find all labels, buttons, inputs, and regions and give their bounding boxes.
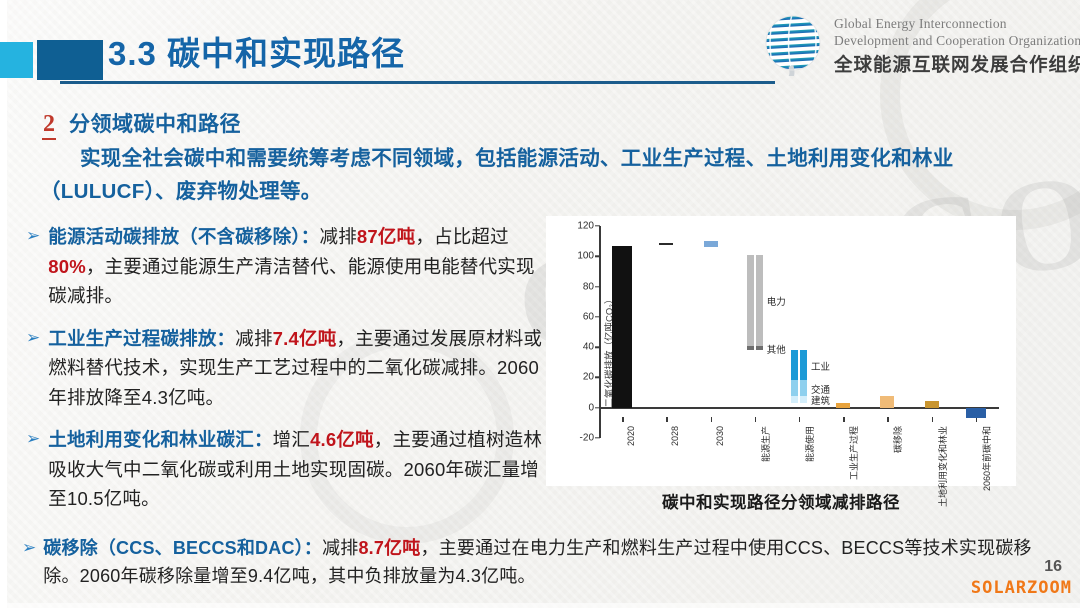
chart-y-tick-mark xyxy=(595,437,600,438)
chart-bar xyxy=(791,396,798,404)
chart-bar xyxy=(800,380,807,395)
slide-header: 3.3 碳中和实现路径 xyxy=(0,0,1080,92)
bullet-body-text: 减排 xyxy=(320,226,357,247)
bullet-body-text: 增汇 xyxy=(273,429,310,450)
chart-segment-label: 建筑 xyxy=(811,393,830,407)
chart-bar xyxy=(659,243,673,245)
chart-x-tick-label: 2030 xyxy=(715,426,725,446)
chart-x-tick-mark xyxy=(887,417,888,422)
bullet-text: 土地利用变化和林业碳汇：增汇4.6亿吨，主要通过植树造林吸收大气中二氧化碳或利用… xyxy=(48,425,546,514)
bullet-arrow-icon: ➢ xyxy=(26,425,40,514)
chart-bar xyxy=(747,255,754,346)
chart-bar xyxy=(800,350,807,380)
bullet-body-text: 减排 xyxy=(322,538,358,558)
bullet-body-text: 减排 xyxy=(235,328,272,349)
chart-y-tick-mark xyxy=(595,316,600,317)
bullet-text: 碳移除（CCS、BECCS和DAC）：减排8.7亿吨，主要通过在电力生产和燃料生… xyxy=(43,534,1062,590)
section-title: 分领域碳中和路径 xyxy=(69,108,241,138)
chart-x-tick-label: 碳移除 xyxy=(891,426,904,453)
chart-bar xyxy=(756,255,763,346)
chart-y-tick-mark xyxy=(595,407,600,408)
title-underline xyxy=(60,81,775,84)
chart-segment-label: 工业 xyxy=(811,359,830,373)
bullet-list: ➢能源活动碳排放（不含碳移除）：减排87亿吨，占比超过80%，主要通过能源生产清… xyxy=(26,222,546,527)
chart-x-tick-mark xyxy=(711,417,712,422)
chart-x-tick-mark xyxy=(622,417,623,422)
chart-bar xyxy=(704,241,718,247)
chart-bar xyxy=(966,408,986,419)
chart-caption: 碳中和实现路径分领域减排路径 xyxy=(546,489,1016,513)
section-number: 2 xyxy=(42,112,56,140)
bullet-item-1: ➢能源活动碳排放（不含碳移除）：减排87亿吨，占比超过80%，主要通过能源生产清… xyxy=(26,222,546,311)
globe-icon xyxy=(762,14,824,76)
logo-english-line2: Development and Cooperation Organization xyxy=(834,33,1080,49)
highlighted-figure: 4.6亿吨 xyxy=(310,429,374,450)
chart-bar xyxy=(800,396,807,404)
bottom-edge xyxy=(0,603,1080,608)
bullet-body-text: ，占比超过 xyxy=(415,226,509,247)
chart-bar xyxy=(925,401,939,408)
bullet-item-2: ➢工业生产过程碳排放：减排7.4亿吨，主要通过发展原材料或燃料替代技术，实现生产… xyxy=(26,324,546,413)
section-heading: 2 分领域碳中和路径 xyxy=(42,108,241,140)
highlighted-figure: 7.4亿吨 xyxy=(273,328,337,349)
bullet-heading: 能源活动碳排放（不含碳移除）： xyxy=(48,226,319,247)
chart-y-tick-mark xyxy=(595,225,600,226)
bullet-heading: 碳移除（CCS、BECCS和DAC）： xyxy=(43,538,322,558)
bullet-arrow-icon: ➢ xyxy=(22,534,36,590)
bullet-item-carbon-removal: ➢碳移除（CCS、BECCS和DAC）：减排8.7亿吨，主要通过在电力生产和燃料… xyxy=(22,534,1062,590)
chart-y-tick-mark xyxy=(595,377,600,378)
chart-y-tick-mark xyxy=(595,286,600,287)
chart-x-tick-label: 能源生产 xyxy=(759,426,772,462)
bullet-arrow-icon: ➢ xyxy=(26,324,40,413)
bullet-heading: 土地利用变化和林业碳汇： xyxy=(48,429,272,450)
chart-y-tick-mark xyxy=(595,346,600,347)
highlighted-figure: 80% xyxy=(48,256,86,277)
chart-x-tick-label: 2060年前碳中和 xyxy=(980,426,993,491)
header-accent-blue xyxy=(37,40,103,80)
chart-x-tick-mark xyxy=(755,417,756,422)
logo-chinese-name: 全球能源互联网发展合作组织 xyxy=(834,51,1080,77)
page-number: 16 xyxy=(1044,558,1062,576)
chart-x-tick-label: 2020 xyxy=(626,426,636,446)
chart-y-tick-mark xyxy=(595,256,600,257)
chart-bar xyxy=(791,350,798,380)
bullet-text: 能源活动碳排放（不含碳移除）：减排87亿吨，占比超过80%，主要通过能源生产清洁… xyxy=(48,222,546,311)
logo-english-line1: Global Energy Interconnection xyxy=(834,16,1007,32)
chart-segment-label: 其他 xyxy=(767,342,786,356)
emission-pathway-chart: 二氧化碳排放（亿吨CO₂） -2002040608010012020202028… xyxy=(546,216,1016,486)
bullet-body-text: ，主要通过能源生产清洁替代、能源使用电能替代实现碳减排。 xyxy=(48,256,534,307)
header-accent-cyan xyxy=(0,42,33,78)
chart-x-tick-mark xyxy=(843,417,844,422)
chart-bar xyxy=(612,246,632,408)
highlighted-figure: 87亿吨 xyxy=(357,226,415,247)
chart-plot-area: -20020406080100120202020282030能源生产能源使用工业… xyxy=(600,226,998,438)
slide-background: GEIDCO 3.3 碳中和实现路径 xyxy=(0,0,1080,608)
chart-x-tick-label: 能源使用 xyxy=(803,426,816,462)
solarzoom-watermark: SOLARZOOM xyxy=(971,578,1072,598)
bullet-item-3: ➢土地利用变化和林业碳汇：增汇4.6亿吨，主要通过植树造林吸收大气中二氧化碳或利… xyxy=(26,425,546,514)
chart-bar xyxy=(880,396,894,408)
chart-x-tick-mark xyxy=(799,417,800,422)
chart-bar xyxy=(791,380,798,395)
chart-bar xyxy=(747,346,754,351)
bullet-heading: 工业生产过程碳排放： xyxy=(48,328,235,349)
chart-bar xyxy=(756,346,763,351)
chart-bar xyxy=(836,403,850,408)
chart-x-tick-mark xyxy=(932,417,933,422)
chart-x-tick-label: 工业生产过程 xyxy=(847,426,860,480)
chart-segment-label: 电力 xyxy=(767,294,786,308)
chart-x-tick-mark xyxy=(666,417,667,422)
chart-x-tick-label: 2028 xyxy=(670,426,680,446)
highlighted-figure: 8.7亿吨 xyxy=(358,538,420,558)
section-intro-paragraph: 实现全社会碳中和需要统筹考虑不同领域，包括能源活动、工业生产过程、土地利用变化和… xyxy=(40,142,1050,208)
geidco-logo: Global Energy Interconnection Developmen… xyxy=(762,10,1072,82)
page-title: 3.3 碳中和实现路径 xyxy=(108,27,405,75)
bullet-text: 工业生产过程碳排放：减排7.4亿吨，主要通过发展原材料或燃料替代技术，实现生产工… xyxy=(48,324,546,413)
bullet-arrow-icon: ➢ xyxy=(26,222,40,311)
